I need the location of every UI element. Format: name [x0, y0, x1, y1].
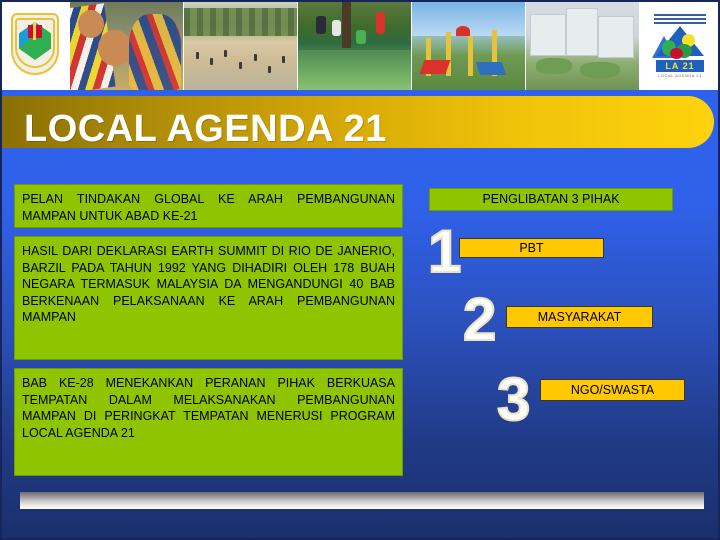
play-structure-icon: [468, 36, 473, 76]
building-icon: [530, 14, 566, 56]
person-icon: [210, 58, 213, 65]
jabatan-perancangan-bandar-logo-icon: [11, 13, 59, 75]
header-photo-strip: LA 21 LOCAL AGENDA 21: [0, 0, 720, 90]
la21-logo-subtext: LOCAL AGENDA 21: [656, 73, 704, 78]
person-icon: [282, 56, 285, 63]
building-icon: [598, 16, 634, 58]
pond-water-icon: [298, 50, 411, 90]
content-box-3: BAB KE-28 MENEKANKAN PERANAN PIHAK BERKU…: [14, 368, 403, 476]
stakeholder-number-1: 1: [428, 222, 461, 282]
la21-logo-caption-icon: [654, 14, 706, 24]
person-icon: [239, 62, 242, 69]
content-box-2: HASIL DARI DEKLARASI EARTH SUMMIT DI RIO…: [14, 236, 403, 360]
photo-children-at-pond: [298, 0, 412, 90]
right-logo-cell: LA 21 LOCAL AGENDA 21: [640, 0, 720, 90]
face-icon: [128, 40, 160, 74]
stakeholder-label-pbt: PBT: [459, 238, 604, 258]
stakeholder-label-masyarakat: MASYARAKAT: [506, 306, 653, 328]
presentation-slide: LA 21 LOCAL AGENDA 21 LOCAL AGENDA 21 PE…: [0, 0, 720, 540]
page-title: LOCAL AGENDA 21: [24, 108, 387, 151]
slide-icon: [476, 62, 506, 75]
stakeholders-header: PENGLIBATAN 3 PIHAK: [429, 188, 673, 211]
person-icon: [224, 50, 227, 57]
stakeholder-number-3: 3: [497, 370, 530, 430]
stakeholder-number-2: 2: [463, 290, 496, 350]
person-icon: [196, 52, 199, 59]
bottom-accent-bar: [20, 492, 704, 509]
landscaping-icon: [536, 58, 572, 74]
photo-housing-development: [526, 0, 640, 90]
tree-trunk-icon: [342, 0, 351, 48]
person-icon: [356, 30, 366, 44]
photo-beach-crowd: [184, 0, 298, 90]
left-logo-cell: [0, 0, 70, 90]
content-box-2-text: HASIL DARI DEKLARASI EARTH SUMMIT DI RIO…: [22, 243, 395, 326]
content-box-3-text: BAB KE-28 MENEKANKAN PERANAN PIHAK BERKU…: [22, 375, 395, 441]
photo-children-with-malaysian-flags: [70, 0, 184, 90]
person-icon: [332, 20, 341, 36]
content-box-1-text: PELAN TINDAKAN GLOBAL KE ARAH PEMBANGUNA…: [22, 191, 395, 224]
person-icon: [268, 66, 271, 73]
person-icon: [254, 54, 257, 61]
la21-logo-icon: LA 21 LOCAL AGENDA 21: [650, 10, 710, 80]
landscaping-icon: [580, 62, 620, 78]
la21-logo-text: LA 21: [656, 60, 704, 72]
tree-icon: [670, 48, 683, 59]
stakeholder-label-ngo-swasta: NGO/SWASTA: [540, 379, 685, 401]
face-icon: [98, 30, 132, 66]
shield-crest-icon: [28, 25, 42, 38]
canopy-icon: [456, 26, 470, 36]
treeline-icon: [184, 8, 297, 36]
person-icon: [316, 16, 326, 34]
building-icon: [566, 8, 598, 56]
photo-playground: [412, 0, 526, 90]
slide-icon: [419, 60, 450, 74]
face-icon: [78, 10, 104, 38]
person-icon: [376, 12, 385, 34]
content-box-1: PELAN TINDAKAN GLOBAL KE ARAH PEMBANGUNA…: [14, 184, 403, 228]
